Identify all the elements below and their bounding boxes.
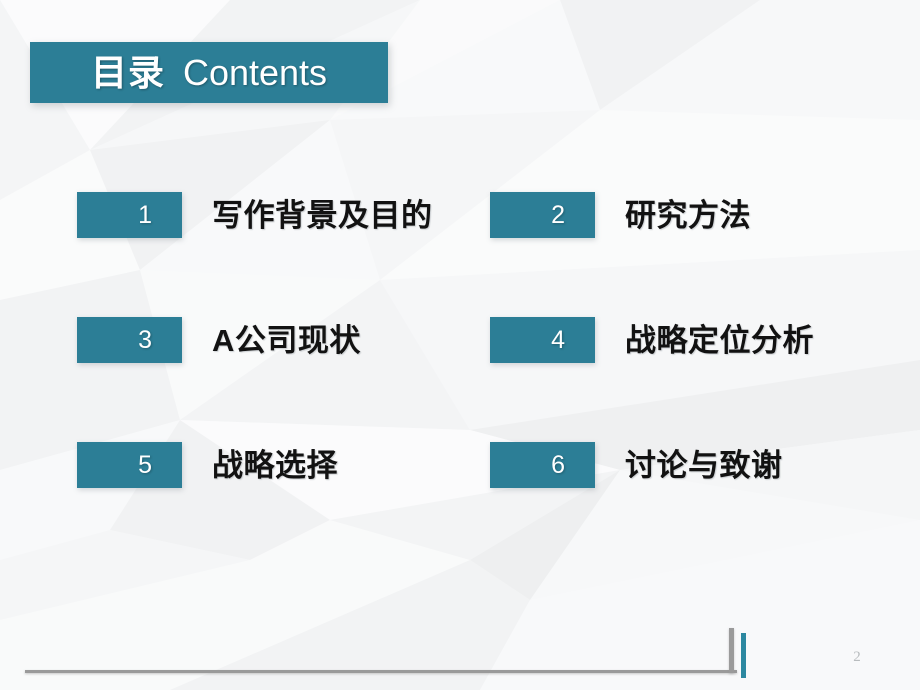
toc-number-1: 1 bbox=[138, 203, 152, 228]
toc-item-2[interactable]: 2 研究方法 bbox=[490, 186, 751, 244]
toc-label-2: 研究方法 bbox=[625, 200, 751, 231]
footer-horizontal-rule bbox=[25, 670, 737, 673]
toc-number-box-6: 6 bbox=[490, 442, 595, 488]
toc-row: 5 战略选择 6 讨论与致谢 bbox=[0, 436, 920, 561]
toc-item-1[interactable]: 1 写作背景及目的 bbox=[77, 186, 433, 244]
toc-label-4: 战略定位分析 bbox=[625, 325, 814, 356]
toc-number-box-5: 5 bbox=[77, 442, 182, 488]
toc-number-box-1: 1 bbox=[77, 192, 182, 238]
title-chinese: 目录 bbox=[91, 52, 165, 93]
toc-item-4[interactable]: 4 战略定位分析 bbox=[490, 311, 814, 369]
toc-label-5: 战略选择 bbox=[212, 450, 338, 481]
title-english: Contents bbox=[183, 52, 327, 93]
toc-label-6: 讨论与致谢 bbox=[625, 450, 783, 481]
toc-row: 1 写作背景及目的 2 研究方法 bbox=[0, 186, 920, 311]
toc-number-box-3: 3 bbox=[77, 317, 182, 363]
slide-canvas: 目录Contents 1 写作背景及目的 2 研究方法 bbox=[0, 0, 920, 690]
toc-number-box-4: 4 bbox=[490, 317, 595, 363]
toc-row: 3 A公司现状 4 战略定位分析 bbox=[0, 311, 920, 436]
toc-item-6[interactable]: 6 讨论与致谢 bbox=[490, 436, 783, 494]
toc-label-1: 写作背景及目的 bbox=[212, 200, 433, 231]
toc-number-4: 4 bbox=[551, 328, 565, 353]
toc-number-2: 2 bbox=[551, 203, 565, 228]
toc-item-5[interactable]: 5 战略选择 bbox=[77, 436, 338, 494]
toc-item-3[interactable]: 3 A公司现状 bbox=[77, 311, 361, 369]
slide-title-banner: 目录Contents bbox=[30, 42, 388, 103]
page-number: 2 bbox=[845, 650, 869, 665]
footer-accent-bar-gray bbox=[729, 628, 734, 673]
toc-label-3: A公司现状 bbox=[212, 325, 361, 356]
slide-title-text: 目录Contents bbox=[30, 55, 388, 91]
toc-number-3: 3 bbox=[138, 328, 152, 353]
toc-number-6: 6 bbox=[551, 453, 565, 478]
footer-accent-bar-teal bbox=[741, 633, 746, 678]
toc-number-5: 5 bbox=[138, 453, 152, 478]
toc-number-box-2: 2 bbox=[490, 192, 595, 238]
table-of-contents: 1 写作背景及目的 2 研究方法 3 A公司现状 bbox=[0, 186, 920, 561]
